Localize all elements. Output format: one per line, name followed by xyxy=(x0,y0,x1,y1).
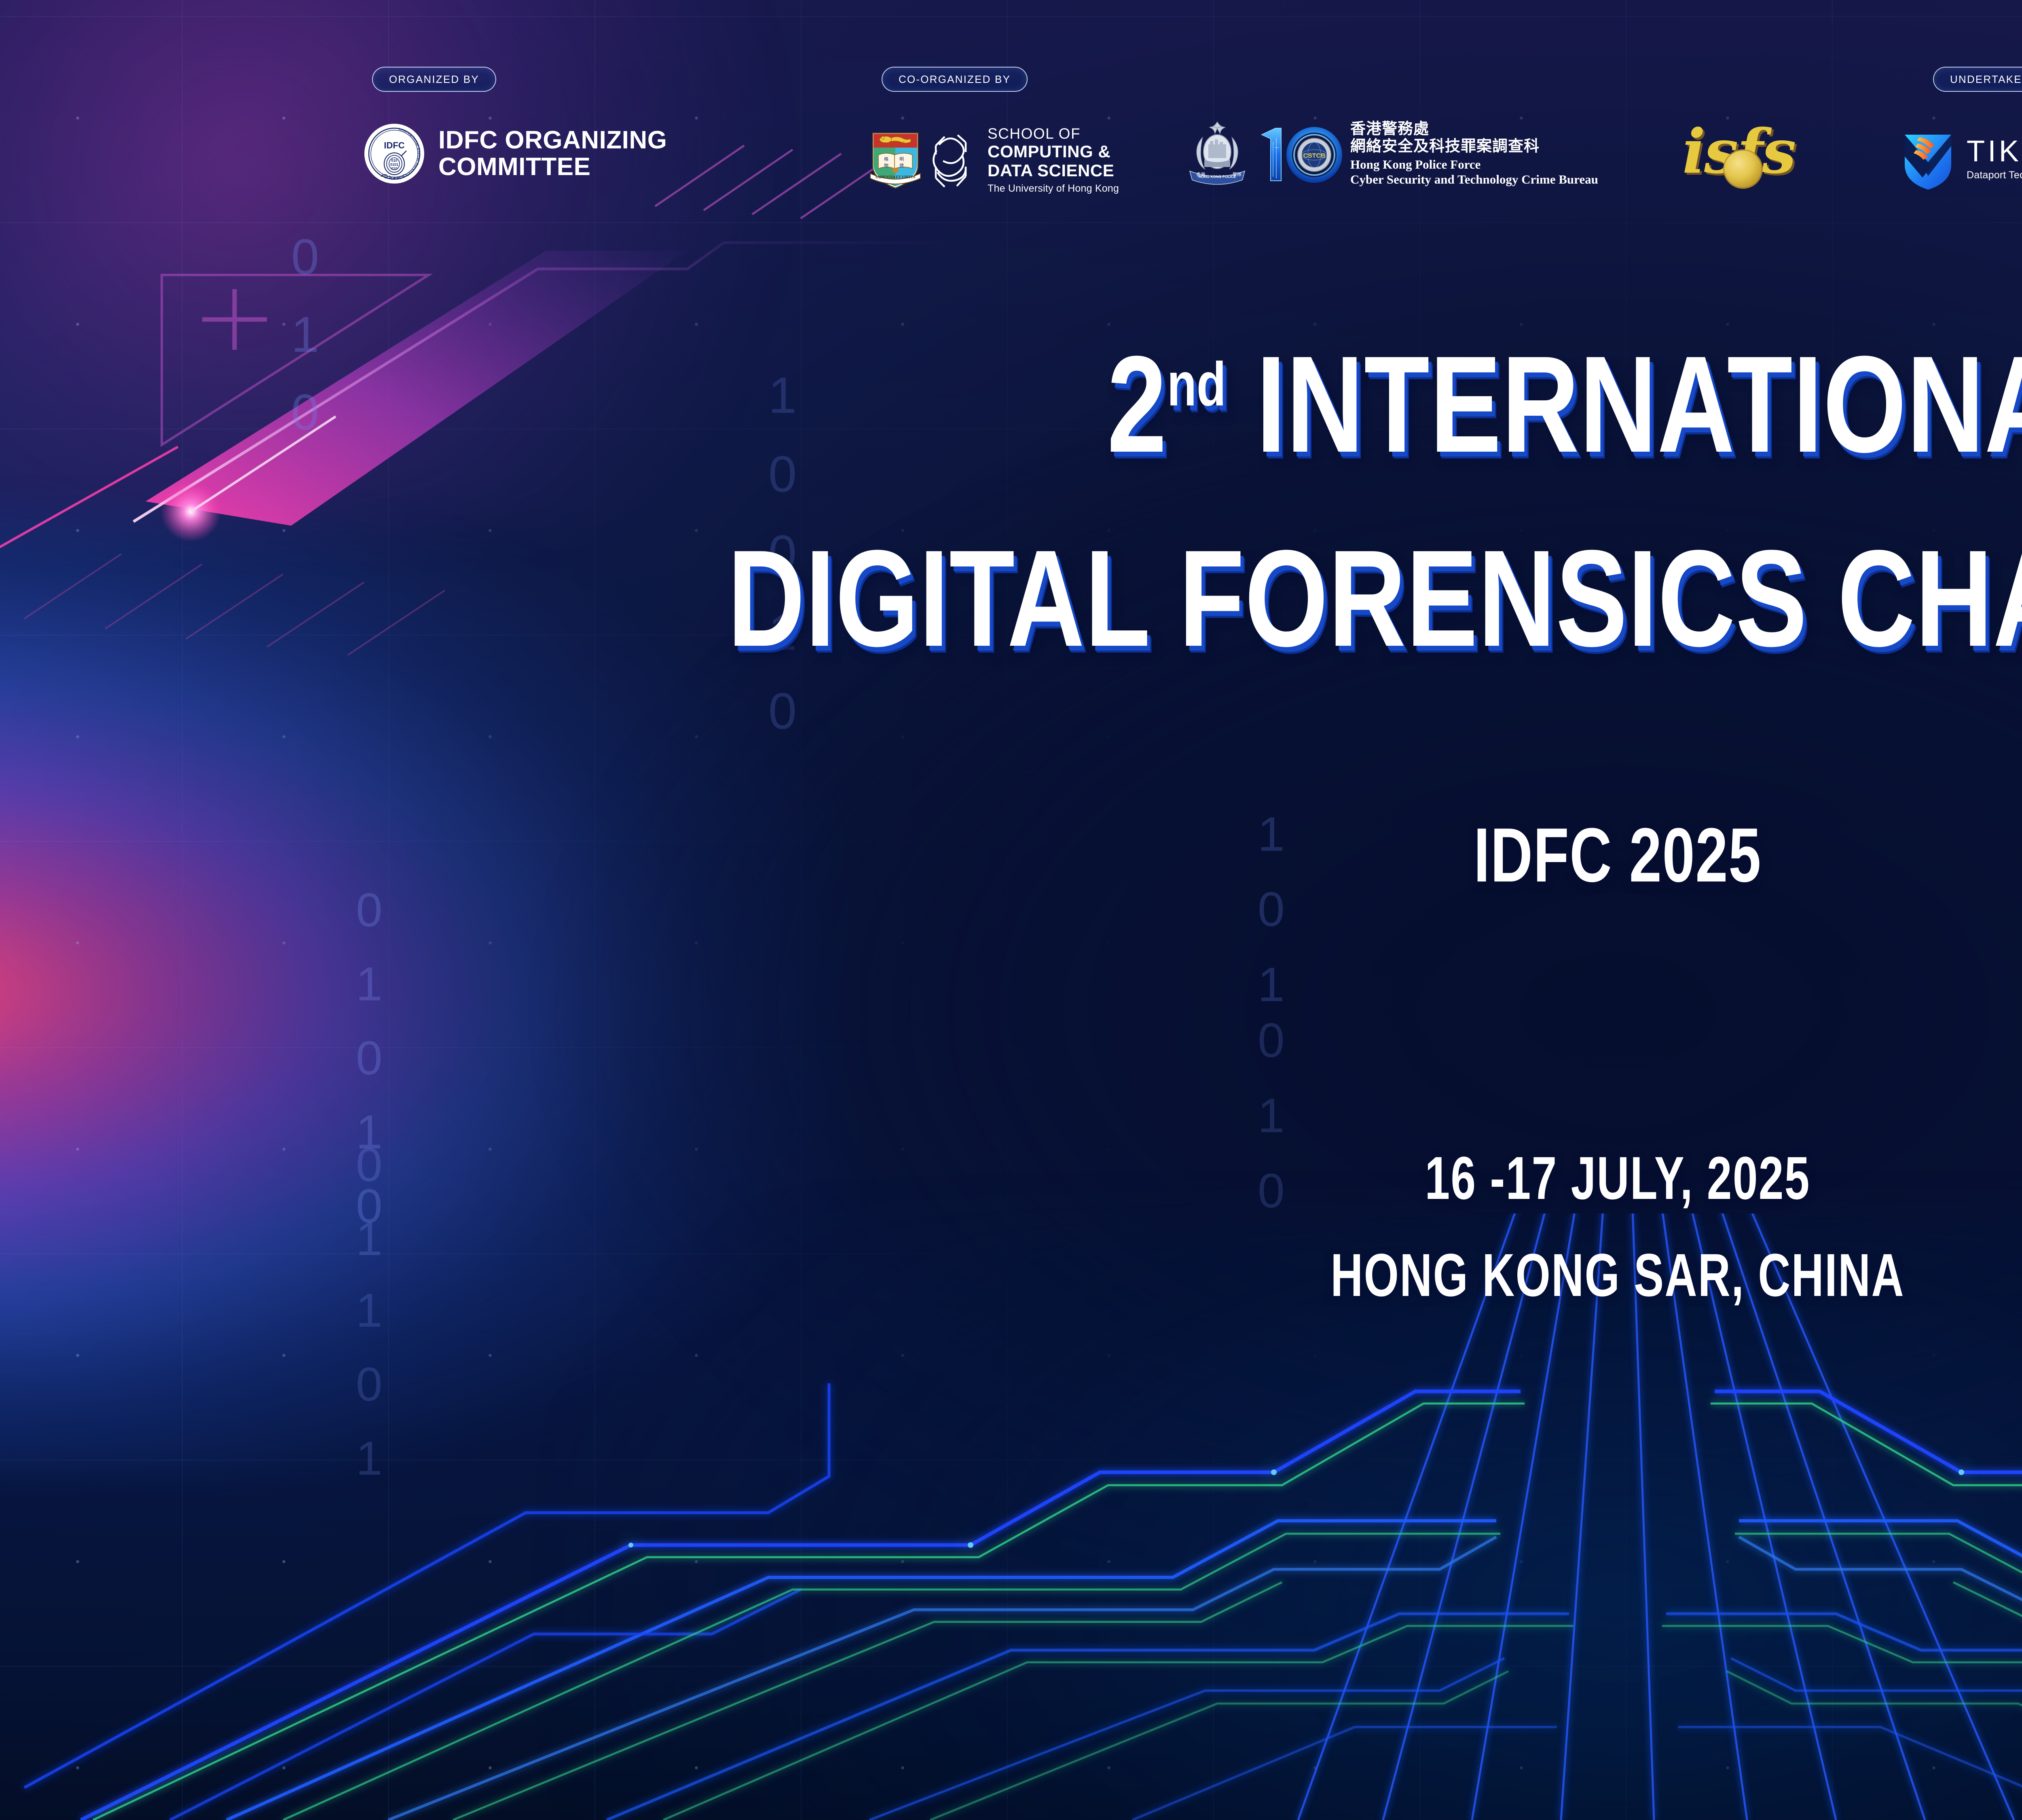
svg-text:010: 010 xyxy=(391,167,397,171)
svg-text:格: 格 xyxy=(884,156,888,162)
cstcb-10th-anniversary-icon: CSTCB xyxy=(1253,119,1344,188)
logo-idfc-organizing-committee: IDFC 010 0101 010 International Digital … xyxy=(364,123,667,184)
idfc-seal-icon: IDFC 010 0101 010 International Digital … xyxy=(364,123,425,184)
tiko-mark-icon xyxy=(1897,127,1959,190)
scds-mark-icon xyxy=(921,128,982,192)
svg-text:警隊: 警隊 xyxy=(1233,171,1242,177)
hku-crest-icon: 格 物 明 德 SAPIENTIA ET VIRTUS xyxy=(869,130,921,190)
grid-center-mask xyxy=(0,0,2022,1820)
hkpf-wordmark: 香港警務處 網絡安全及科技罪案調查科 Hong Kong Police Forc… xyxy=(1350,120,1598,187)
svg-text:物: 物 xyxy=(884,163,888,168)
badge-undertaken-by: UNDERTAKEN BY xyxy=(1933,67,2022,92)
logo-hkpf-cstcb: HONG KONG POLICE 香港 警隊 xyxy=(1185,119,1598,188)
badge-organized-by: ORGANIZED BY xyxy=(372,67,496,92)
svg-text:010: 010 xyxy=(391,159,397,163)
scds-wordmark: SCHOOL OF COMPUTING & DATA SCIENCE The U… xyxy=(988,125,1119,195)
cstcb-medal-text: CSTCB xyxy=(1303,152,1325,159)
badge-co-organized-by: CO-ORGANIZED BY xyxy=(882,67,1028,92)
group-co-organized-by: CO-ORGANIZED BY xyxy=(882,67,1028,92)
svg-text:0101: 0101 xyxy=(390,163,398,167)
svg-text:明: 明 xyxy=(899,156,904,162)
svg-text:IDFC: IDFC xyxy=(384,140,404,150)
hong-kong-police-crest-icon: HONG KONG POLICE 香港 警隊 xyxy=(1185,119,1250,188)
idfc-committee-name: IDFC ORGANIZING COMMITTEE xyxy=(438,127,667,181)
logo-hku-scds: 格 物 明 德 SAPIENTIA ET VIRTUS xyxy=(869,125,1119,195)
isfs-coin-icon xyxy=(1724,150,1762,188)
tiko-wordmark: TIKO Dataport Technology Limited xyxy=(1967,136,2022,181)
partner-header: ORGANIZED BY IDFC 010 0101 010 xyxy=(0,0,2022,251)
svg-text:香港: 香港 xyxy=(1196,172,1205,177)
svg-text:德: 德 xyxy=(899,163,904,168)
hku-motto: SAPIENTIA ET VIRTUS xyxy=(876,175,915,179)
group-undertaken-by: UNDERTAKEN BY xyxy=(1933,67,2022,92)
logo-tiko: TIKO Dataport Technology Limited xyxy=(1897,127,2022,190)
group-organized-by: ORGANIZED BY xyxy=(372,67,496,92)
poster-canvas: 0 1 00 1 0 1 00 11 0 11 0 0 1 01 0 10 1 … xyxy=(0,0,2022,1820)
